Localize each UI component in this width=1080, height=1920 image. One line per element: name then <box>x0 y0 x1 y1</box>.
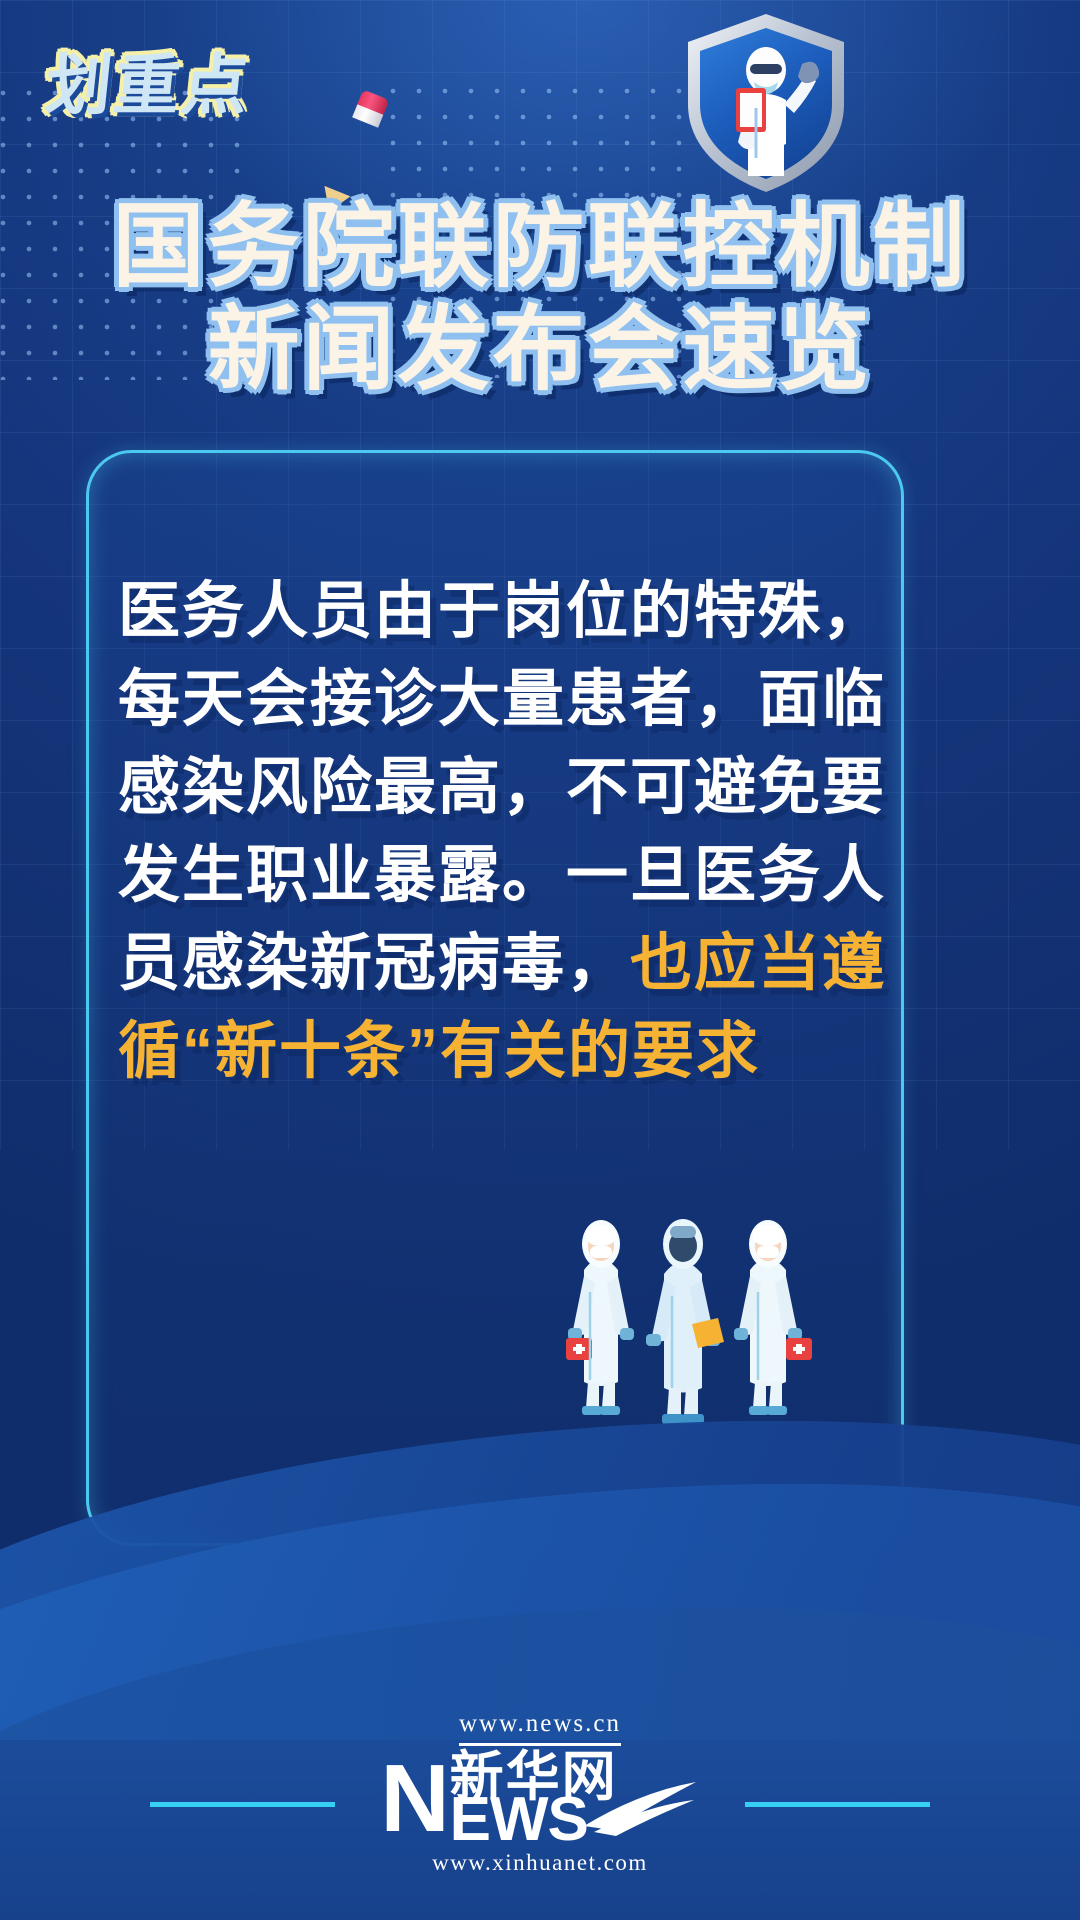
footer-url-bottom: www.xinhuanet.com <box>0 1850 1080 1876</box>
page-title: 国务院联防联控机制 新闻发布会速览 <box>0 196 1080 402</box>
body-line-mixed: 员感染新冠病毒，也应当遵 <box>118 920 878 1008</box>
headline-line-2: 新闻发布会速览 <box>0 299 1080 402</box>
body-line-accent: 循“新十条”有关的要求 <box>118 1008 878 1096</box>
body-line: 医务人员由于岗位的特殊， <box>118 568 878 656</box>
poster-root: 划重点 <box>0 0 1080 1920</box>
xinhua-logo: www.news.cn N 新华网 EWS www.xinhuanet.com <box>0 1710 1080 1876</box>
logo-swoosh-icon <box>580 1776 700 1836</box>
body-line-plain: 员感染新冠病毒， <box>118 929 630 998</box>
footer-url-top: www.news.cn <box>459 1710 621 1746</box>
headline-line-1: 国务院联防联控机制 <box>0 196 1080 299</box>
logo-row: N 新华网 EWS <box>0 1750 1080 1848</box>
body-line: 发生职业暴露。一旦医务人 <box>118 832 878 920</box>
content-body: 医务人员由于岗位的特殊， 每天会接诊大量患者，面临 感染风险最高，不可避免要 发… <box>118 568 878 1096</box>
medical-workers-ppe-icon <box>560 1196 840 1436</box>
body-line: 每天会接诊大量患者，面临 <box>118 656 878 744</box>
shield-medical-worker-icon <box>676 8 856 198</box>
logo-news-text: EWS <box>450 1792 588 1848</box>
highlight-badge: 划重点 <box>46 52 386 167</box>
body-line-accent: 也应当遵 <box>630 929 886 998</box>
logo-n-glyph: N <box>380 1758 447 1840</box>
logo-letter-n: N <box>380 1758 447 1840</box>
body-line: 感染风险最高，不可避免要 <box>118 744 878 832</box>
highlight-badge-label: 划重点 <box>43 52 390 118</box>
